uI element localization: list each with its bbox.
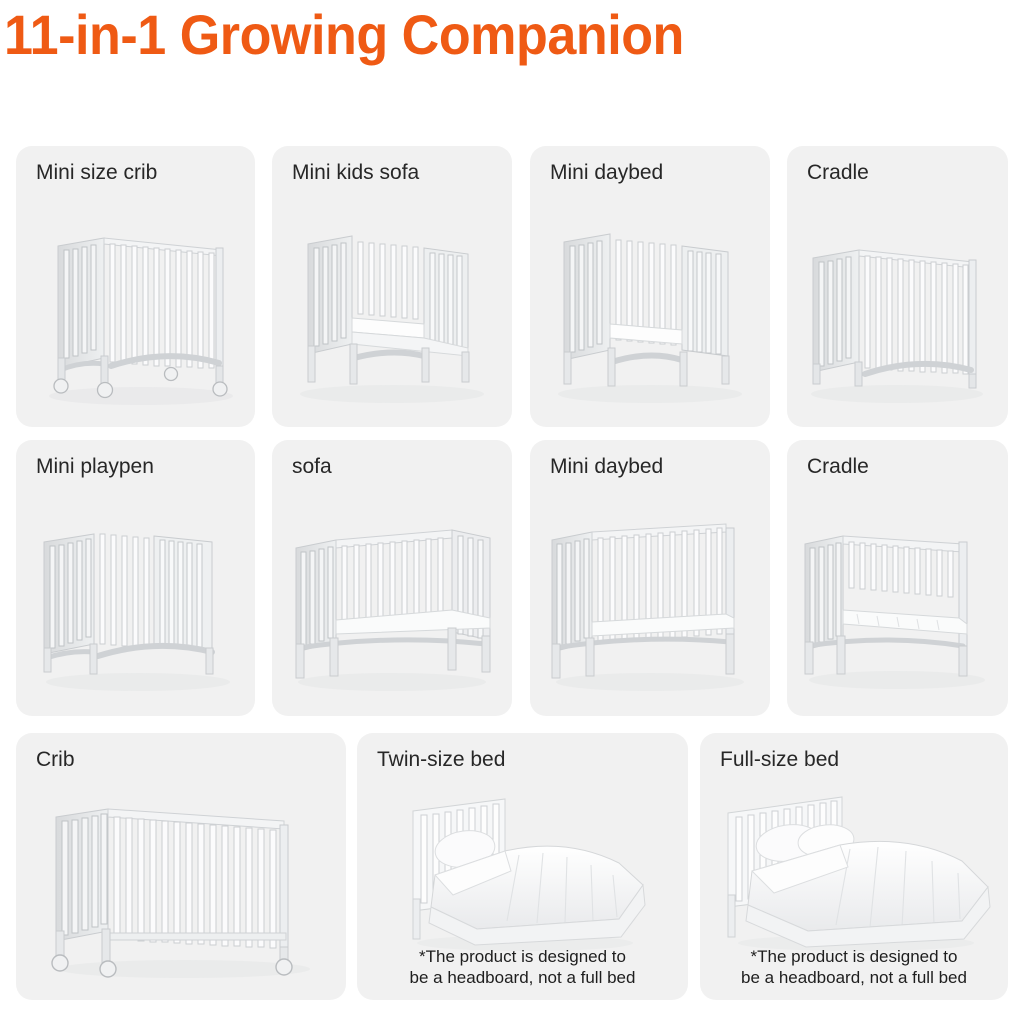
cradle-wide-illustration xyxy=(787,492,1008,712)
config-card-mini-daybed-2[interactable]: Mini daybed xyxy=(530,440,770,716)
config-card-label: Mini daybed xyxy=(550,454,663,480)
card-note: *The product is designed to be a headboa… xyxy=(700,946,1008,988)
twin-bed-illustration xyxy=(357,781,688,956)
config-card-label: Mini playpen xyxy=(36,454,154,480)
mini-crib-illustration xyxy=(16,198,255,423)
config-card-label: sofa xyxy=(292,454,332,480)
config-card-label: Cradle xyxy=(807,160,869,186)
config-card-label: Cradle xyxy=(807,454,869,480)
config-card-mini-size-crib[interactable]: Mini size crib xyxy=(16,146,255,427)
mini-playpen-illustration xyxy=(16,492,255,712)
config-card-crib[interactable]: Crib xyxy=(16,733,346,1000)
card-note-line-1: *The product is designed to xyxy=(710,946,998,967)
config-card-cradle-2[interactable]: Cradle xyxy=(787,440,1008,716)
config-card-mini-daybed[interactable]: Mini daybed xyxy=(530,146,770,427)
mini-kids-sofa-illustration xyxy=(272,198,512,423)
config-card-label: Full-size bed xyxy=(720,747,839,773)
configuration-grid: Mini size crib xyxy=(0,0,1024,1013)
config-card-full-size-bed[interactable]: Full-size bed xyxy=(700,733,1008,1000)
config-card-label: Mini size crib xyxy=(36,160,157,186)
card-note-line-1: *The product is designed to xyxy=(367,946,678,967)
sofa-illustration xyxy=(272,492,512,712)
card-note: *The product is designed to be a headboa… xyxy=(357,946,688,988)
product-configurations-page: 11-in-1 Growing Companion Mini size crib xyxy=(0,0,1024,1013)
config-card-label: Mini daybed xyxy=(550,160,663,186)
config-card-label: Twin-size bed xyxy=(377,747,505,773)
config-card-mini-playpen[interactable]: Mini playpen xyxy=(16,440,255,716)
full-crib-illustration xyxy=(16,781,346,996)
mini-daybed-wide-illustration xyxy=(530,492,770,712)
card-note-line-2: be a headboard, not a full bed xyxy=(367,967,678,988)
config-card-sofa[interactable]: sofa xyxy=(272,440,512,716)
full-bed-illustration xyxy=(700,781,1008,956)
config-card-label: Crib xyxy=(36,747,75,773)
card-note-line-2: be a headboard, not a full bed xyxy=(710,967,998,988)
config-card-cradle[interactable]: Cradle xyxy=(787,146,1008,427)
cradle-illustration xyxy=(787,198,1008,423)
config-card-twin-size-bed[interactable]: Twin-size bed xyxy=(357,733,688,1000)
mini-daybed-illustration xyxy=(530,198,770,423)
config-card-mini-kids-sofa[interactable]: Mini kids sofa xyxy=(272,146,512,427)
config-card-label: Mini kids sofa xyxy=(292,160,419,186)
